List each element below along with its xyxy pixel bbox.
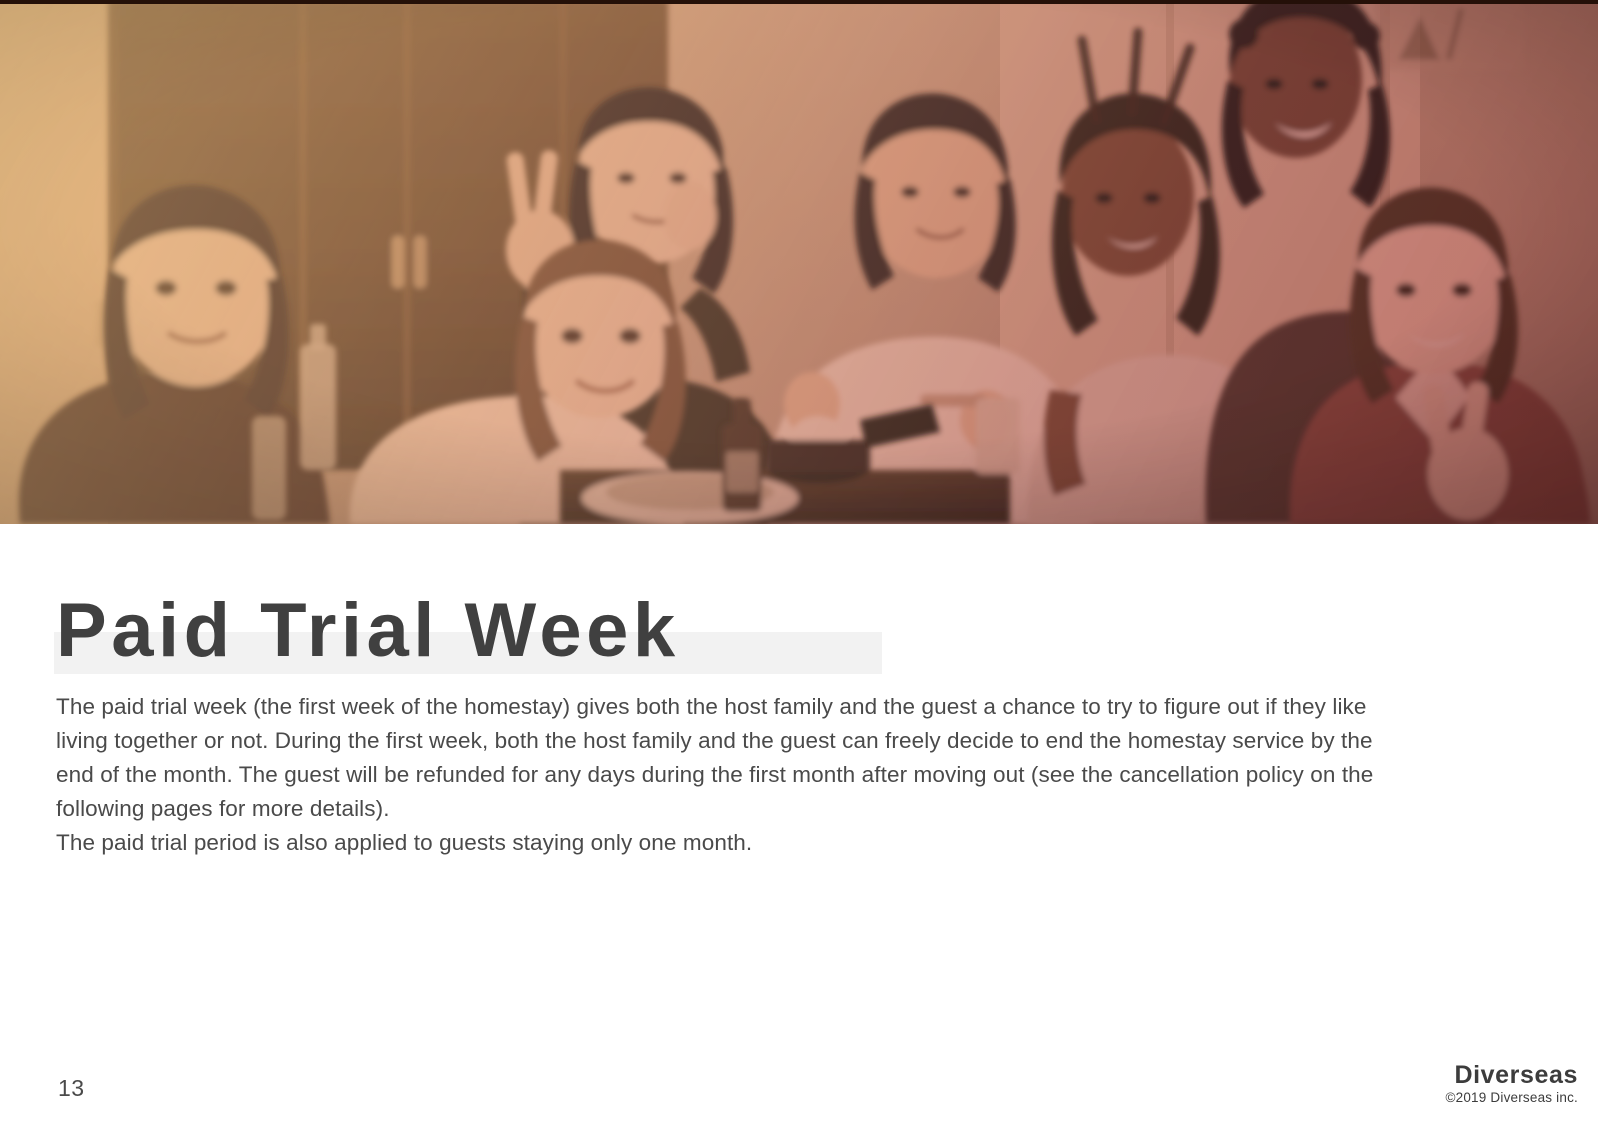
slide-content: Paid Trial Week The paid trial week (the…: [0, 524, 1598, 1130]
slide: Paid Trial Week The paid trial week (the…: [0, 0, 1598, 1130]
body-copy: The paid trial week (the first week of t…: [56, 690, 1386, 860]
body-paragraph-1: The paid trial week (the first week of t…: [56, 690, 1386, 826]
hero-photo-banner: [0, 0, 1598, 524]
page-title-wrapper: Paid Trial Week: [56, 584, 680, 680]
brand-copyright: ©2019 Diverseas inc.: [1445, 1090, 1578, 1106]
hero-top-rule: [0, 0, 1598, 4]
body-paragraph-2: The paid trial period is also applied to…: [56, 826, 1386, 860]
page-number: 13: [58, 1075, 85, 1102]
group-photo-image: [0, 0, 1598, 524]
page-title: Paid Trial Week: [56, 584, 680, 678]
duotone-highlight-overlay: [0, 0, 1598, 524]
brand-name: Diverseas: [1445, 1062, 1578, 1088]
brand-logo: Diverseas ©2019 Diverseas inc.: [1445, 1062, 1578, 1106]
